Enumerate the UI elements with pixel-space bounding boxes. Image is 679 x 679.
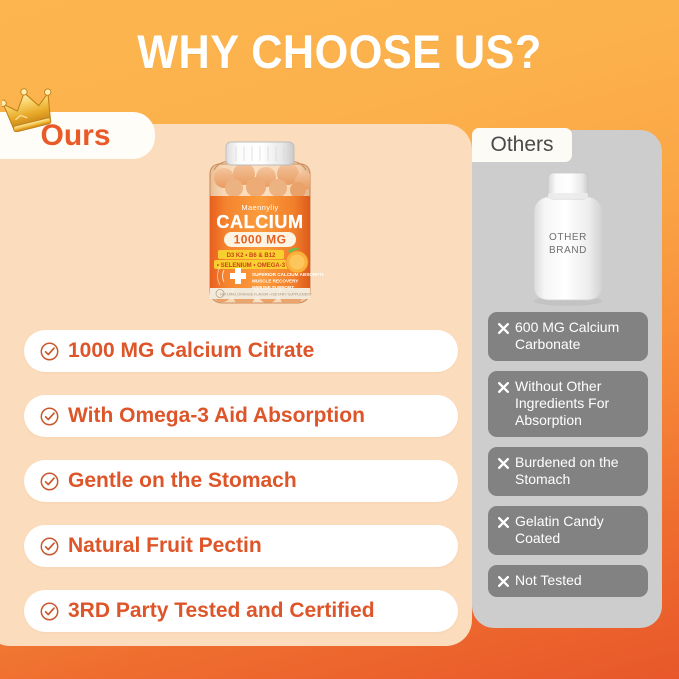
circle-check-icon [40,342,59,361]
others-feature-label: Not Tested [515,572,582,589]
others-feature-row[interactable]: Gelatin Candy Coated [488,506,648,555]
ours-feature-label: 1000 MG Calcium Citrate [68,339,314,363]
other-bottle-label-1: OTHER [549,232,587,243]
cross-icon [497,516,510,529]
ours-feature-label: With Omega-3 Aid Absorption [68,404,365,428]
bottle-dosage: 1000 MG [234,233,287,247]
others-feature-row[interactable]: Not Tested [488,565,648,597]
other-bottle-label-2: BRAND [549,245,587,256]
bottle-ingredients-1: D3 K2 • B6 & B12 [227,253,276,259]
bottle-benefit-1: MUSCLE RECOVERY [252,279,298,284]
bottle-brand: Maennyliy [241,203,278,212]
cross-icon [497,322,510,335]
crown-icon [2,86,58,132]
others-feature-row[interactable]: 600 MG Calcium Carbonate [488,312,648,361]
ours-feature-list: 1000 MG Calcium Citrate With Omega-3 Aid… [24,330,458,632]
ours-feature-row[interactable]: With Omega-3 Aid Absorption [24,395,458,437]
ours-feature-row[interactable]: Gentle on the Stomach [24,460,458,502]
product-bottle-others: OTHER BRAND [524,167,612,307]
tab-others[interactable]: Others [472,128,572,162]
page-title: WHY CHOOSE US? [27,26,652,78]
circle-check-icon [40,537,59,556]
others-feature-row[interactable]: Burdened on the Stomach [488,447,648,496]
others-feature-row[interactable]: Without Other Ingredients For Absorption [488,371,648,437]
cross-icon [497,575,510,588]
bottle-product-name: CALCIUM [216,212,303,232]
bottle-footer: NATURAL ORANGE FLAVOR • DIETARY SUPPLEME… [220,293,313,297]
ours-feature-row[interactable]: 3RD Party Tested and Certified [24,590,458,632]
others-feature-label: Burdened on the Stomach [515,454,640,488]
circle-check-icon [40,602,59,621]
ours-feature-label: Gentle on the Stomach [68,469,297,493]
others-feature-list: 600 MG Calcium Carbonate Without Other I… [488,312,648,597]
bottle-ingredients-2: • SELENIUM • OMEGA-3 [217,263,286,269]
ours-feature-row[interactable]: Natural Fruit Pectin [24,525,458,567]
ours-feature-label: Natural Fruit Pectin [68,534,262,558]
others-feature-label: Without Other Ingredients For Absorption [515,378,640,429]
others-feature-label: Gelatin Candy Coated [515,513,640,547]
cross-icon [497,381,510,394]
cross-icon [497,457,510,470]
circle-check-icon [40,472,59,491]
others-feature-label: 600 MG Calcium Carbonate [515,319,640,353]
product-bottle-ours: Maennyliy CALCIUM 1000 MG D3 K2 • B6 & B… [196,140,324,308]
tab-others-label: Others [490,134,553,156]
bottle-benefit-0: SUPERIOR CALCIUM ABSORPTION [252,272,324,277]
ours-feature-label: 3RD Party Tested and Certified [68,599,375,623]
circle-check-icon [40,407,59,426]
comparison-infographic: WHY CHOOSE US? Ours Others [0,0,679,679]
ours-feature-row[interactable]: 1000 MG Calcium Citrate [24,330,458,372]
